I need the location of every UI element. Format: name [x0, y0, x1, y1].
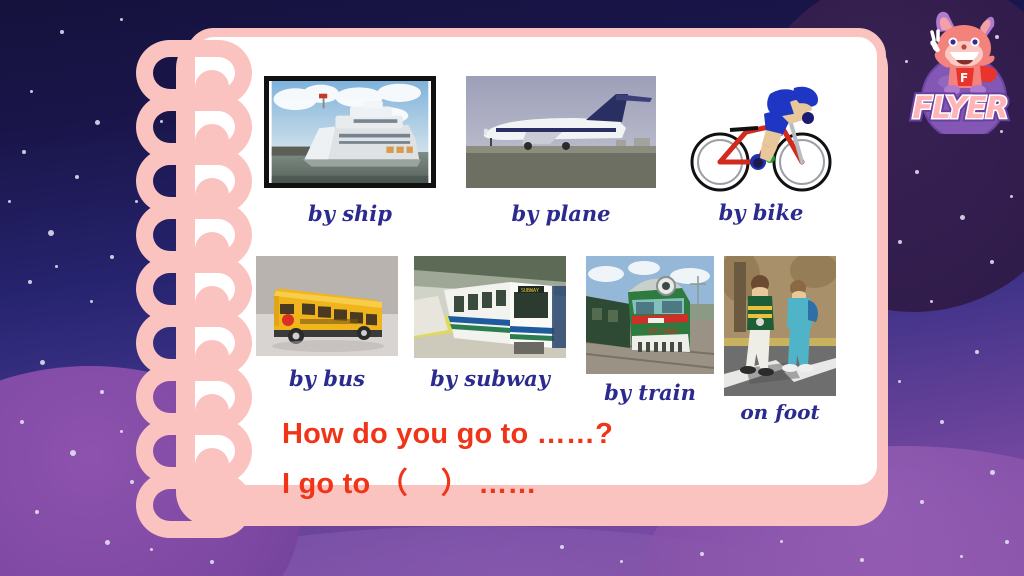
star [30, 90, 33, 93]
svg-text:SUBWAY: SUBWAY [521, 288, 539, 294]
question-sentence: How do you go to ……? [282, 418, 613, 451]
star [150, 548, 153, 551]
transport-label-train: by train [586, 380, 714, 405]
star [1005, 540, 1009, 544]
star [35, 510, 39, 514]
svg-text:F: F [960, 71, 968, 85]
cyclist-clipart [686, 58, 836, 198]
star [130, 480, 134, 484]
slide-content: by ship [186, 28, 886, 494]
transport-card-foot[interactable]: on foot [724, 256, 836, 424]
airliner-photo [466, 76, 656, 188]
star [120, 18, 123, 21]
star [90, 300, 93, 303]
star [940, 420, 944, 424]
transport-card-subway[interactable]: SUBWAY by subway [414, 256, 566, 391]
transport-card-plane[interactable]: by plane [466, 76, 656, 226]
star [920, 500, 924, 504]
spiral-ring-knob [195, 502, 229, 536]
star [120, 430, 123, 433]
star [560, 545, 564, 549]
flyer-logo: F FLYER FLYER FLYER [902, 2, 1018, 134]
star [990, 260, 994, 264]
star [100, 390, 104, 394]
star [70, 450, 76, 456]
transport-label-subway: by subway [414, 366, 566, 391]
star [860, 558, 864, 562]
star [60, 30, 64, 34]
star [95, 120, 100, 125]
star [780, 540, 783, 543]
slide-canvas: by ship [0, 0, 1024, 576]
star [960, 215, 965, 220]
transport-label-bike: by bike [686, 200, 836, 225]
answer-sentence: I go to （ ） …… [282, 460, 537, 502]
star [620, 560, 623, 563]
star [898, 380, 901, 383]
transport-card-train[interactable]: ЭР-500 by train [586, 256, 714, 405]
flyer-wordmark: FLYER FLYER FLYER [912, 91, 1007, 126]
transport-label-bus: by bus [256, 366, 398, 391]
transport-card-bike[interactable]: by bike [686, 58, 836, 225]
star [930, 300, 933, 303]
flyer-wordmark-text: FLYER [912, 91, 1007, 126]
transport-label-ship: by ship [264, 201, 436, 226]
star [75, 175, 79, 179]
star [48, 230, 54, 236]
locomotive-photo: ЭР-500 [586, 256, 714, 374]
star [990, 470, 995, 475]
transport-label-foot: on foot [724, 400, 836, 424]
transport-label-plane: by plane [466, 201, 656, 226]
star [40, 360, 45, 365]
subway-train-photo: SUBWAY [414, 256, 566, 358]
school-bus-photo [256, 256, 398, 356]
star [110, 255, 114, 259]
star [20, 420, 24, 424]
star [975, 350, 979, 354]
star [960, 555, 963, 558]
star [8, 200, 11, 203]
star [898, 240, 902, 244]
transport-card-bus[interactable]: by bus [256, 256, 398, 391]
star [1010, 195, 1013, 198]
star [210, 560, 214, 564]
star [55, 265, 58, 268]
cruise-ship-photo [264, 76, 436, 188]
star [22, 150, 26, 154]
star [105, 540, 110, 545]
star [28, 280, 32, 284]
transport-card-ship[interactable]: by ship [264, 76, 436, 226]
star [915, 170, 919, 174]
star [700, 552, 704, 556]
children-walking-photo [724, 256, 836, 396]
